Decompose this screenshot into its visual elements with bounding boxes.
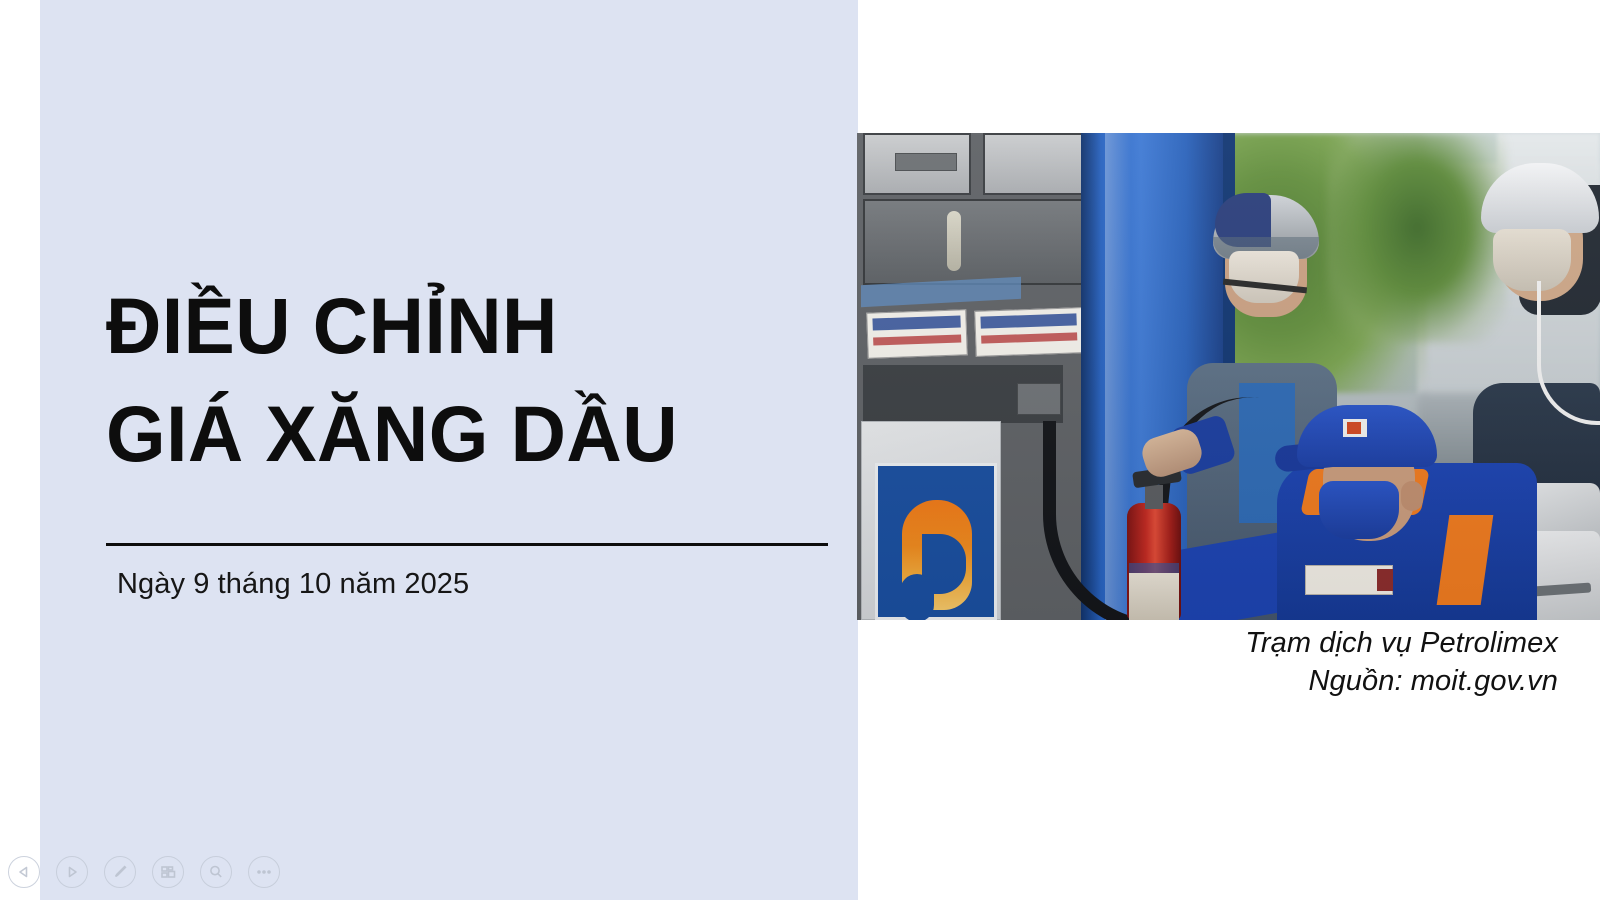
title-divider [106,543,828,546]
petrol-station-photo [857,133,1600,620]
photo-trees-far [1327,133,1507,343]
previous-slide-button[interactable] [8,856,40,888]
caption-line-1: Trạm dịch vụ Petrolimex [938,624,1558,662]
pump-display-left [863,133,971,195]
pen-icon [112,864,128,880]
attendant-ear [1401,481,1423,511]
slide-date: Ngày 9 tháng 10 năm 2025 [117,568,469,601]
zoom-tool-button[interactable] [200,856,232,888]
page-title: ĐIỀU CHỈNH GIÁ XĂNG DẦU [106,272,836,488]
attendant-cap-logo-inner [1347,422,1361,434]
title-line-2: GIÁ XĂNG DẦU [106,380,814,488]
pump-display-right [983,133,1091,195]
photo-caption: Trạm dịch vụ Petrolimex Nguồn: moit.gov.… [938,624,1558,700]
attendant-badge-emblem [1377,569,1393,591]
pump-mid-panel [863,199,1091,285]
caption-line-2: Nguồn: moit.gov.vn [938,662,1558,700]
slide-overview-button[interactable] [152,856,184,888]
triangle-right-icon [65,865,79,879]
pump-price-label-left [866,309,968,358]
price-label-title [980,313,1076,328]
presentation-slide: ĐIỀU CHỈNH GIÁ XĂNG DẦU Ngày 9 tháng 10 … [0,0,1600,900]
pump-nozzle-holder [1017,383,1061,415]
triangle-left-icon [17,865,31,879]
customer-left-face-mask [1229,251,1299,303]
pump-readout-a [895,153,957,171]
next-slide-button[interactable] [56,856,88,888]
fire-extinguisher-neck [1145,485,1163,509]
price-label-value [873,334,961,345]
fire-extinguisher-label [1129,573,1179,620]
pen-tool-button[interactable] [104,856,136,888]
pump-keyhole [947,211,961,271]
more-options-button[interactable] [248,856,280,888]
petrolimex-logo-sign [875,463,997,620]
pump-price-label-right [974,307,1084,357]
price-label-title [872,315,960,330]
attendant-cap [1297,405,1437,467]
petrolimex-flame-inner [900,574,934,620]
title-line-1: ĐIỀU CHỈNH [106,272,814,380]
attendant-face-mask [1319,481,1399,539]
grid-icon [160,864,177,880]
price-label-value [981,332,1077,343]
magnifier-icon [208,864,224,880]
ellipsis-icon [255,868,273,876]
slideshow-toolbar [8,856,280,888]
